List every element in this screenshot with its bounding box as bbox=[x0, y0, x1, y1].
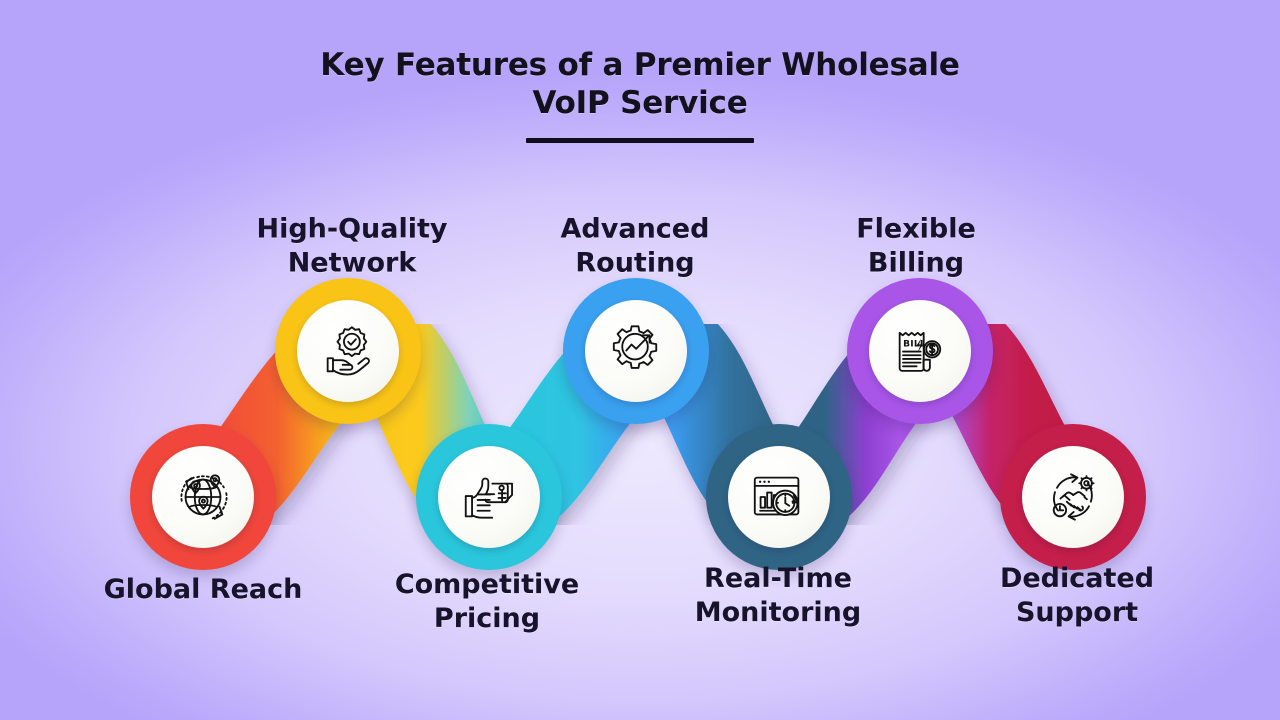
hand-quality-badge-icon bbox=[317, 320, 379, 382]
node-flexible-billing[interactable]: BILL bbox=[847, 278, 993, 424]
globe-network-icon bbox=[172, 466, 234, 528]
node-label-advanced-routing: Advanced Routing bbox=[561, 212, 710, 281]
node-label-real-time-monitoring: Real-Time Monitoring bbox=[695, 562, 861, 631]
handshake-support-icon bbox=[1042, 466, 1104, 528]
node-advanced-routing-disc bbox=[585, 300, 687, 402]
node-competitive-pricing-disc bbox=[438, 446, 540, 548]
node-global-reach[interactable] bbox=[130, 424, 276, 570]
node-dedicated-support-disc bbox=[1022, 446, 1124, 548]
node-advanced-routing[interactable] bbox=[563, 278, 709, 424]
node-high-quality-network[interactable] bbox=[275, 278, 421, 424]
node-flexible-billing-disc: BILL bbox=[869, 300, 971, 402]
infographic-canvas: Key Features of a Premier Wholesale VoIP… bbox=[0, 0, 1280, 720]
node-label-competitive-pricing: Competitive Pricing bbox=[395, 568, 579, 637]
node-label-flexible-billing: Flexible Billing bbox=[856, 212, 976, 281]
bill-invoice-dollar-icon: BILL bbox=[889, 320, 951, 382]
node-label-dedicated-support: Dedicated Support bbox=[1000, 562, 1154, 631]
node-dedicated-support[interactable] bbox=[1000, 424, 1146, 570]
gear-trending-arrow-icon bbox=[605, 320, 667, 382]
node-competitive-pricing[interactable] bbox=[416, 424, 562, 570]
node-label-global-reach: Global Reach bbox=[104, 573, 303, 607]
page-title: Key Features of a Premier Wholesale VoIP… bbox=[0, 46, 1280, 122]
node-global-reach-disc bbox=[152, 446, 254, 548]
thumbs-up-price-tag-icon bbox=[458, 466, 520, 528]
node-real-time-monitoring-disc bbox=[728, 446, 830, 548]
dashboard-clock-icon bbox=[748, 466, 810, 528]
title-underline-divider bbox=[526, 138, 754, 143]
node-label-high-quality-network: High-Quality Network bbox=[256, 212, 447, 281]
node-high-quality-network-disc bbox=[297, 300, 399, 402]
title-block: Key Features of a Premier Wholesale VoIP… bbox=[0, 46, 1280, 143]
node-real-time-monitoring[interactable] bbox=[706, 424, 852, 570]
